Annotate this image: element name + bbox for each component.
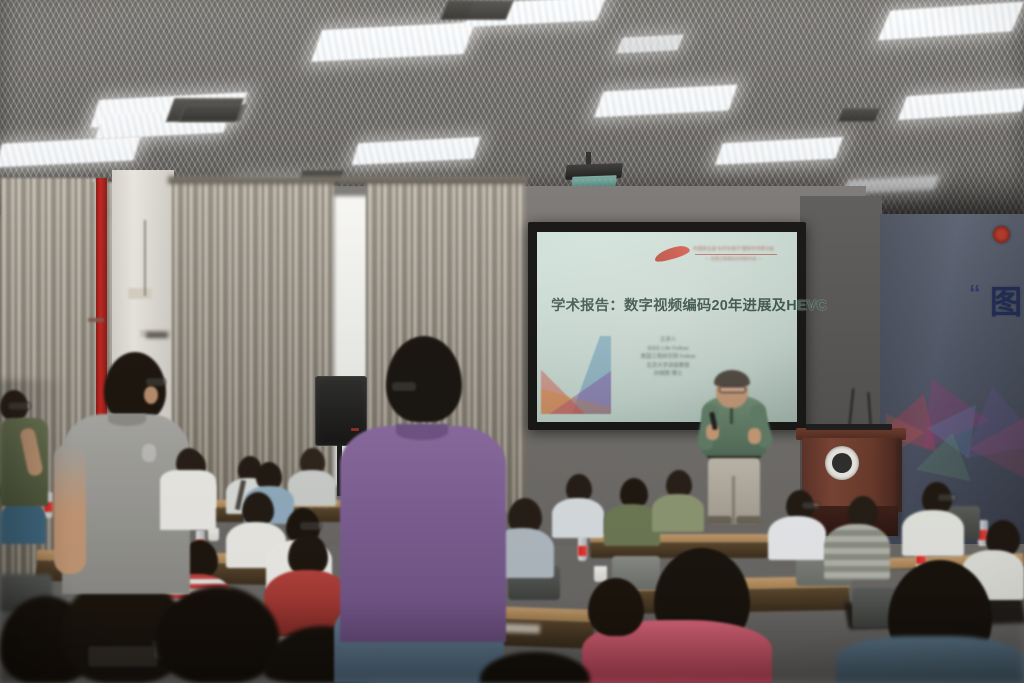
foreground-shadow [0,600,1024,683]
standing-man-gray-ear [144,386,158,404]
presenter-shoe [736,516,762,525]
standing-man-purple-collar [396,424,448,440]
screen-shading [537,232,797,422]
projection-screen-surface: 中国第五届“光学光电子”国际学术研讨会 — 全国工程视化应用研讨会 — 学术报告… [537,232,797,422]
ceiling-vent [440,0,514,20]
audience-torso-striped [824,524,890,580]
standing-man-gray-glasses [146,378,166,386]
audience-glasses [300,522,322,530]
pa-speaker-badge [351,428,359,431]
audience-torso [768,516,826,560]
curtain-rail [168,176,528,184]
presenter-leg-split [732,476,735,524]
standing-man-white-torso [160,470,216,530]
bottle-label [578,546,587,556]
lecture-hall-photo: 中国第五届“光学光电子”国际学术研讨会 — 全国工程视化应用研讨会 — 学术报告… [0,0,1024,683]
pillar-door-handle [88,318,104,322]
podium-seal-emblem [832,453,852,473]
presenter-glasses [719,386,746,393]
presenter-shoe [706,516,732,525]
audience-head [242,492,274,526]
pillar-box [146,332,168,338]
podium-cable [898,440,900,536]
audience-torso [902,510,964,556]
ceiling-vent [179,104,248,122]
audience-torso [288,470,336,506]
pillar-cable [144,220,146,296]
audience-torso [552,498,604,538]
ceiling-vent [837,108,881,122]
left-shadow [0,380,70,683]
podium-top-band [806,424,892,430]
audience-glasses [802,502,820,509]
standing-man-purple-glasses [392,382,416,391]
standing-man-gray-print [142,444,156,462]
pillar-bracket [128,288,152,299]
audience-glasses [938,494,957,501]
audience-torso [652,494,704,532]
presenter-hand-right [748,428,761,444]
standing-man-gray-collar [108,414,146,426]
